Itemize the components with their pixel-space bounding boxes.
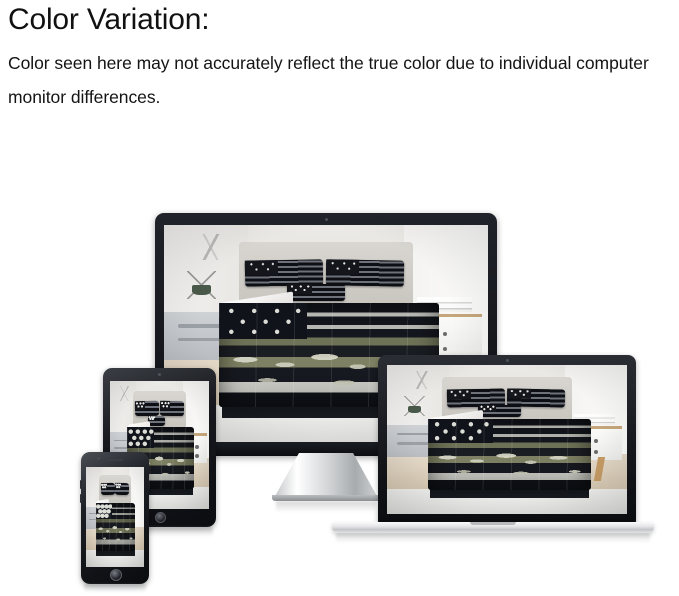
tablet-camera-icon xyxy=(158,373,161,376)
laptop-webcam-icon xyxy=(506,359,509,362)
laptop-reflection xyxy=(336,533,650,546)
monitor-stand-neck xyxy=(274,453,378,498)
photo-vignette xyxy=(86,467,144,567)
phone-front-camera-icon xyxy=(97,457,100,460)
bedroom-scene-laptop xyxy=(387,365,627,514)
laptop-base xyxy=(332,522,654,533)
phone-home-button[interactable] xyxy=(110,569,122,581)
phone-earpiece-icon xyxy=(107,459,123,461)
phone-volume-up-button[interactable] xyxy=(80,480,82,489)
monitor-reflection xyxy=(276,501,376,517)
monitor-stand-base xyxy=(272,495,380,501)
smartphone xyxy=(81,452,149,584)
monitor-webcam-icon xyxy=(325,218,328,221)
phone-volume-down-button[interactable] xyxy=(80,494,82,503)
phone-screen xyxy=(86,467,144,567)
laptop-open-notch xyxy=(470,522,516,525)
bedroom-scene-phone xyxy=(86,467,144,567)
laptop-screen xyxy=(387,365,627,514)
color-variation-text-block: Color Variation: Color seen here may not… xyxy=(0,0,679,114)
disclaimer-text: Color seen here may not accurately refle… xyxy=(0,40,676,114)
page-title: Color Variation: xyxy=(0,0,679,40)
tablet-home-button[interactable] xyxy=(155,512,166,523)
device-lineup xyxy=(0,150,679,589)
phone-reflection xyxy=(84,584,146,596)
photo-vignette xyxy=(387,365,627,514)
laptop xyxy=(378,355,636,523)
